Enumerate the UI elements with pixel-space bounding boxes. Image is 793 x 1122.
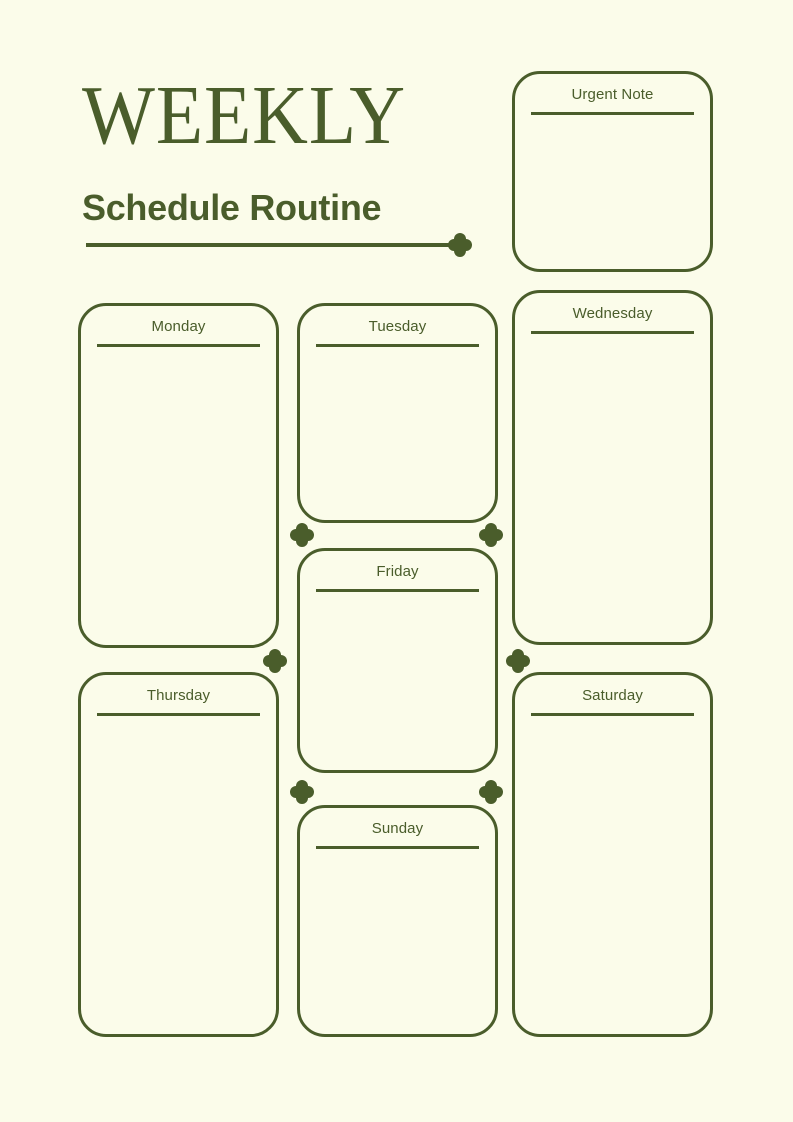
quatrefoil-icon (447, 232, 473, 258)
day-underline-monday (97, 344, 260, 347)
quatrefoil-icon (478, 522, 504, 548)
day-label-thursday: Thursday (81, 686, 276, 705)
urgent-note-underline (531, 112, 694, 115)
day-card-wednesday[interactable]: Wednesday (512, 290, 713, 645)
day-card-friday[interactable]: Friday (297, 548, 498, 773)
urgent-note-card[interactable]: Urgent Note (512, 71, 713, 272)
day-underline-friday (316, 589, 479, 592)
urgent-note-label: Urgent Note (515, 85, 710, 104)
day-underline-thursday (97, 713, 260, 716)
day-label-monday: Monday (81, 317, 276, 336)
page-title: WEEKLY (82, 72, 406, 160)
quatrefoil-icon (478, 779, 504, 805)
quatrefoil-icon (289, 522, 315, 548)
day-underline-tuesday (316, 344, 479, 347)
day-underline-sunday (316, 846, 479, 849)
quatrefoil-icon (262, 648, 288, 674)
day-underline-saturday (531, 713, 694, 716)
quatrefoil-icon (505, 648, 531, 674)
quatrefoil-icon (289, 779, 315, 805)
weekly-schedule-planner: WEEKLY Schedule Routine Urgent Note Mond… (0, 0, 793, 1122)
day-label-tuesday: Tuesday (300, 317, 495, 336)
day-underline-wednesday (531, 331, 694, 334)
day-card-monday[interactable]: Monday (78, 303, 279, 648)
day-card-saturday[interactable]: Saturday (512, 672, 713, 1037)
day-card-sunday[interactable]: Sunday (297, 805, 498, 1037)
page-subtitle: Schedule Routine (82, 186, 381, 230)
day-label-sunday: Sunday (300, 819, 495, 838)
day-card-thursday[interactable]: Thursday (78, 672, 279, 1037)
day-label-wednesday: Wednesday (515, 304, 710, 323)
day-card-tuesday[interactable]: Tuesday (297, 303, 498, 523)
day-label-friday: Friday (300, 562, 495, 581)
day-label-saturday: Saturday (515, 686, 710, 705)
header-divider (86, 243, 456, 247)
